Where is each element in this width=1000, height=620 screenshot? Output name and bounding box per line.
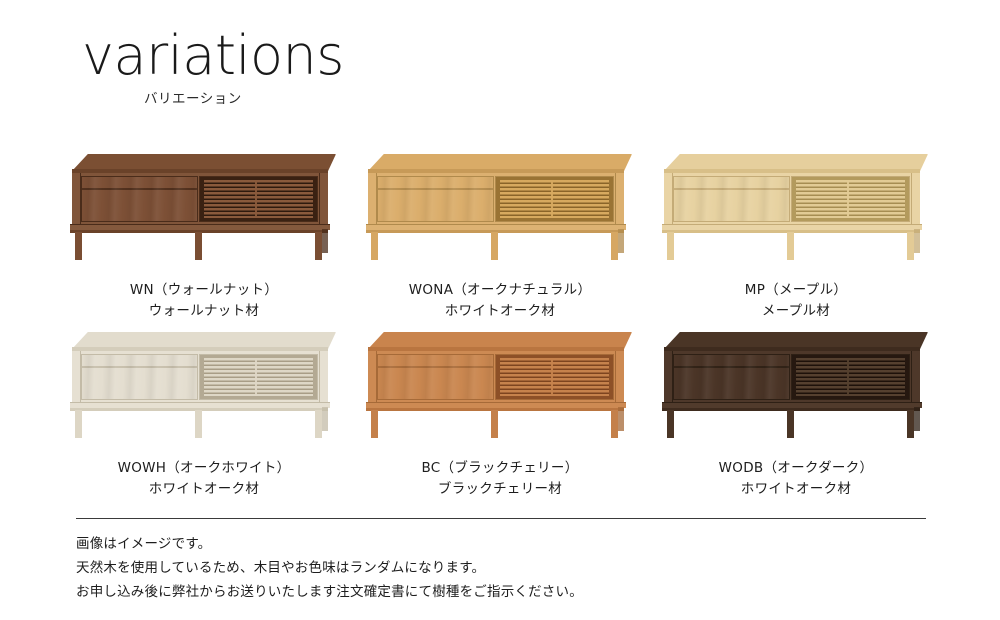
board-leg-center [195, 410, 202, 438]
variation-material: メープル材 [745, 301, 847, 322]
slat-center-post [255, 180, 257, 218]
page-title: variations [82, 28, 344, 85]
page-subtitle: バリエーション [144, 87, 344, 107]
note-line-2: 天然木を使用しているため、木目やお色味はランダムになります。 [76, 556, 916, 580]
variation-item[interactable]: WODB（オークダーク）ホワイトオーク材 [652, 328, 940, 506]
board-leg-rear [618, 407, 624, 431]
door-slats [204, 180, 313, 218]
board-leg-right [611, 410, 618, 438]
slatted-sliding-door [199, 176, 318, 222]
variation-code: BC（ブラックチェリー） [421, 458, 578, 479]
slat-center-post [847, 358, 849, 396]
variation-material: ブラックチェリー材 [421, 479, 578, 500]
board-leg-right [315, 232, 322, 260]
board-leg-left [667, 410, 674, 438]
door-slats [500, 358, 609, 396]
board-leg-center [787, 232, 794, 260]
board-leg-left [667, 232, 674, 260]
tv-board-icon[interactable] [656, 150, 936, 266]
slat-center-post [551, 358, 553, 396]
tv-board-icon[interactable] [64, 150, 344, 266]
tv-board-illustration [656, 150, 936, 266]
note-line-1: 画像はイメージです。 [76, 532, 916, 556]
board-leg-rear [322, 407, 328, 431]
board-left-stile [72, 173, 81, 225]
variation-caption: WN（ウォールナット）ウォールナット材 [130, 280, 278, 322]
board-right-stile [319, 173, 328, 225]
variation-material: ホワイトオーク材 [409, 301, 592, 322]
notes-block: 画像はイメージです。 天然木を使用しているため、木目やお色味はランダムになります… [76, 532, 916, 604]
board-leg-center [491, 232, 498, 260]
door-slats [500, 180, 609, 218]
board-left-stile [664, 351, 673, 403]
door-slats [204, 358, 313, 396]
solid-sliding-door [673, 354, 790, 400]
variation-caption: BC（ブラックチェリー）ブラックチェリー材 [421, 458, 578, 500]
slat-center-post [551, 180, 553, 218]
variation-caption: WOWH（オークホワイト）ホワイトオーク材 [118, 458, 291, 500]
section-divider [76, 518, 926, 519]
slat-center-post [255, 358, 257, 396]
variations-page: variations バリエーション WN（ウォールナット）ウォールナット材WO… [0, 0, 1000, 620]
board-leg-rear [914, 407, 920, 431]
board-leg-left [371, 410, 378, 438]
solid-sliding-door [377, 176, 494, 222]
tv-board-illustration [360, 328, 640, 444]
door-slats [796, 180, 905, 218]
variation-material: ウォールナット材 [130, 301, 278, 322]
tv-board-icon[interactable] [360, 150, 640, 266]
board-leg-center [195, 232, 202, 260]
solid-sliding-door [673, 176, 790, 222]
board-leg-right [907, 410, 914, 438]
variations-grid: WN（ウォールナット）ウォールナット材WONA（オークナチュラル）ホワイトオーク… [60, 150, 940, 506]
slatted-sliding-door [199, 354, 318, 400]
variation-item[interactable]: WN（ウォールナット）ウォールナット材 [60, 150, 348, 328]
variation-code: WODB（オークダーク） [719, 458, 874, 479]
door-slats [796, 358, 905, 396]
board-right-stile [319, 351, 328, 403]
board-right-stile [615, 351, 624, 403]
board-leg-rear [322, 229, 328, 253]
board-left-stile [72, 351, 81, 403]
variation-item[interactable]: MP（メープル）メープル材 [652, 150, 940, 328]
board-leg-left [371, 232, 378, 260]
board-leg-center [491, 410, 498, 438]
tv-board-icon[interactable] [360, 328, 640, 444]
board-right-stile [911, 351, 920, 403]
board-right-stile [615, 173, 624, 225]
board-leg-right [907, 232, 914, 260]
solid-sliding-door [81, 354, 198, 400]
board-leg-center [787, 410, 794, 438]
board-leg-right [315, 410, 322, 438]
board-leg-left [75, 410, 82, 438]
variation-code: WOWH（オークホワイト） [118, 458, 291, 479]
tv-board-icon[interactable] [656, 328, 936, 444]
board-leg-rear [914, 229, 920, 253]
board-left-stile [368, 173, 377, 225]
variation-item[interactable]: BC（ブラックチェリー）ブラックチェリー材 [356, 328, 644, 506]
slatted-sliding-door [791, 176, 910, 222]
board-right-stile [911, 173, 920, 225]
variation-item[interactable]: WONA（オークナチュラル）ホワイトオーク材 [356, 150, 644, 328]
variation-caption: WODB（オークダーク）ホワイトオーク材 [719, 458, 874, 500]
slatted-sliding-door [791, 354, 910, 400]
tv-board-illustration [360, 150, 640, 266]
variation-caption: WONA（オークナチュラル）ホワイトオーク材 [409, 280, 592, 322]
board-leg-right [611, 232, 618, 260]
board-left-stile [664, 173, 673, 225]
slatted-sliding-door [495, 354, 614, 400]
slatted-sliding-door [495, 176, 614, 222]
variation-code: WONA（オークナチュラル） [409, 280, 592, 301]
solid-sliding-door [81, 176, 198, 222]
variation-material: ホワイトオーク材 [118, 479, 291, 500]
board-left-stile [368, 351, 377, 403]
page-header: variations バリエーション [82, 28, 344, 107]
slat-center-post [847, 180, 849, 218]
variation-caption: MP（メープル）メープル材 [745, 280, 847, 322]
variation-material: ホワイトオーク材 [719, 479, 874, 500]
variation-item[interactable]: WOWH（オークホワイト）ホワイトオーク材 [60, 328, 348, 506]
tv-board-illustration [64, 150, 344, 266]
tv-board-illustration [64, 328, 344, 444]
board-leg-left [75, 232, 82, 260]
solid-sliding-door [377, 354, 494, 400]
tv-board-icon[interactable] [64, 328, 344, 444]
tv-board-illustration [656, 328, 936, 444]
board-leg-rear [618, 229, 624, 253]
note-line-3: お申し込み後に弊社からお送りいたします注文確定書にて樹種をご指示ください。 [76, 580, 916, 604]
variation-code: MP（メープル） [745, 280, 847, 301]
variation-code: WN（ウォールナット） [130, 280, 278, 301]
